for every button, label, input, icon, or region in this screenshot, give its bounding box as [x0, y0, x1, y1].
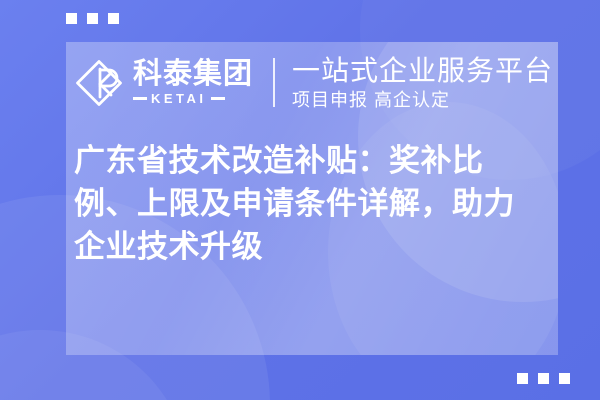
square-dot-icon — [538, 373, 549, 384]
square-dot-icon — [517, 373, 528, 384]
rule-left-icon — [133, 97, 147, 100]
slogan-primary: 一站式企业服务平台 — [292, 55, 553, 86]
content-panel: 科泰集团 KETAI 一站式企业服务平台 项目申报 高企认定 广东省技术改造补贴… — [66, 42, 558, 355]
brand-name-en: KETAI — [151, 92, 207, 105]
square-dot-icon — [559, 373, 570, 384]
decorative-dots-top-left — [66, 13, 119, 24]
brand-wordmark: 科泰集团 KETAI — [133, 60, 253, 105]
slogan-secondary: 项目申报 高企认定 — [292, 90, 553, 110]
brand-logo-lockup[interactable]: 科泰集团 KETAI — [74, 58, 253, 108]
ketai-diamond-kp-logo-icon — [74, 58, 124, 108]
brand-slogan-divider — [273, 58, 275, 107]
rule-right-icon — [211, 97, 225, 100]
headline-title: 广东省技术改造补贴：奖补比例、上限及申请条件详解，助力企业技术升级 — [74, 140, 544, 268]
square-dot-icon — [108, 13, 119, 24]
square-dot-icon — [66, 13, 77, 24]
promo-banner: 科泰集团 KETAI 一站式企业服务平台 项目申报 高企认定 广东省技术改造补贴… — [0, 0, 600, 400]
decorative-dots-bottom-right — [517, 373, 570, 384]
brand-name-cn: 科泰集团 — [133, 60, 253, 89]
square-dot-icon — [87, 13, 98, 24]
brand-header: 科泰集团 KETAI 一站式企业服务平台 项目申报 高企认定 — [66, 42, 558, 114]
brand-name-en-row: KETAI — [133, 92, 253, 105]
slogan-block: 一站式企业服务平台 项目申报 高企认定 — [292, 55, 553, 111]
